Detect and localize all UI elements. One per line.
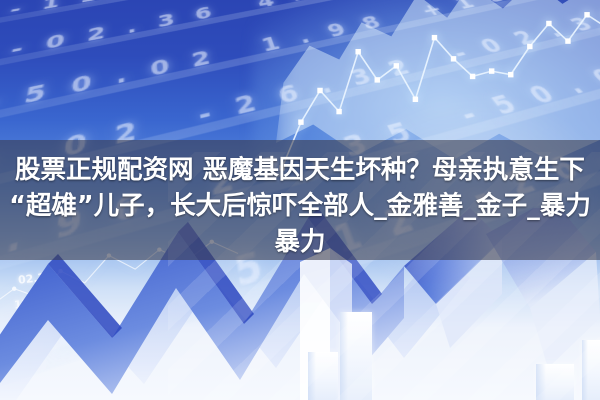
- caption-line-3: 暴力: [274, 224, 325, 260]
- chart-node: [451, 56, 456, 61]
- caption-line-1: 股票正规配资网 恶魔基因天生坏种？母亲执意生下: [15, 152, 585, 188]
- chart-node: [355, 49, 360, 54]
- chart-node: [317, 88, 322, 93]
- thumbnail-image: -03.35 -11.25 +15.02 21.96 45.02 +15.02 …: [0, 0, 600, 400]
- chart-node: [508, 72, 513, 77]
- chart-node: [432, 35, 437, 40]
- chart-node: [527, 44, 532, 49]
- chart-node: [565, 38, 570, 43]
- chart-node: [584, 12, 589, 17]
- chart-node: [375, 77, 380, 82]
- caption-text-block: 股票正规配资网 恶魔基因天生坏种？母亲执意生下 “超雄”儿子，长大后惊吓全部人_…: [0, 140, 600, 270]
- caption-line-2: “超雄”儿子，长大后惊吓全部人_金雅善_金子_暴力: [9, 188, 591, 224]
- chart-node: [546, 21, 551, 26]
- chart-node: [470, 74, 475, 79]
- chart-node: [489, 68, 494, 73]
- chart-node: [394, 63, 399, 68]
- chart-node: [298, 119, 303, 124]
